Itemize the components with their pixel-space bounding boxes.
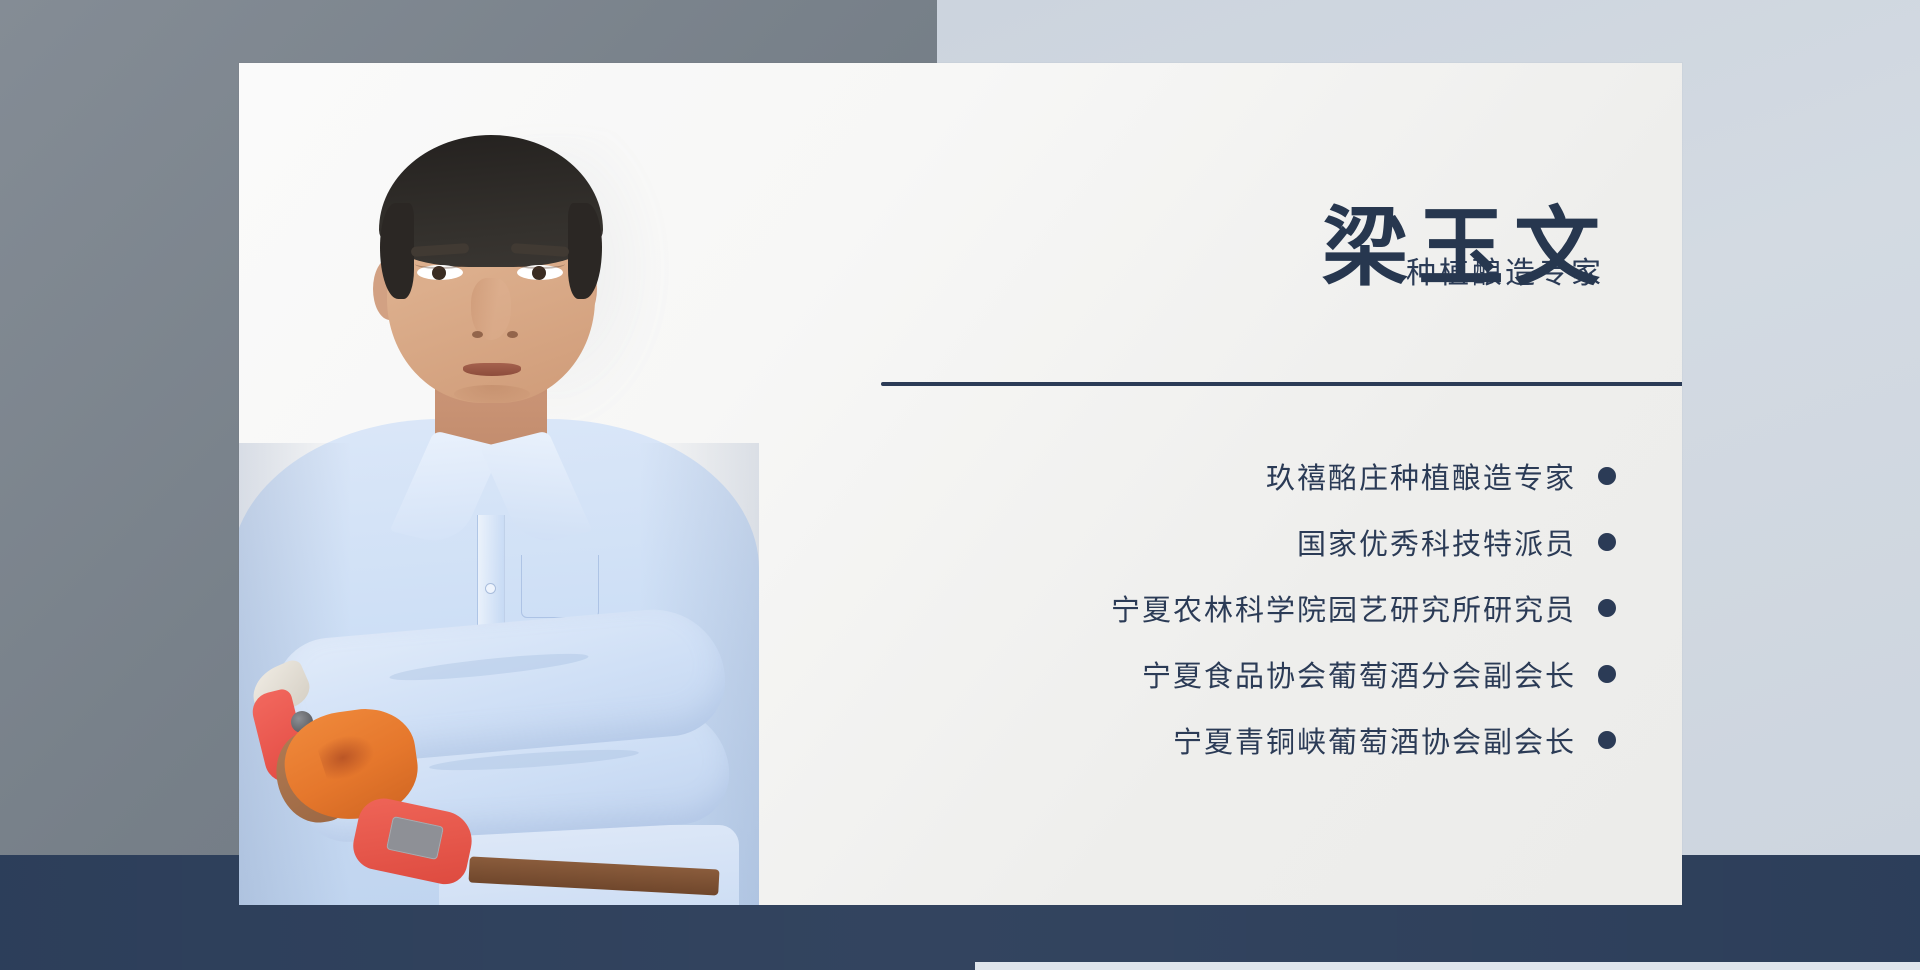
shirt-pocket xyxy=(521,555,599,618)
credential-label: 国家优秀科技特派员 xyxy=(1297,521,1576,563)
profile-card: 种植酿造专家 梁玉文 玖禧酩庄种植酿造专家 国家优秀科技特派员 宁夏农林科学院园… xyxy=(239,63,1682,905)
mouth xyxy=(463,363,521,376)
credentials-list: 玖禧酩庄种植酿造专家 国家优秀科技特派员 宁夏农林科学院园艺研究所研究员 宁夏食… xyxy=(1111,443,1616,773)
bullet-dot-icon xyxy=(1598,665,1616,683)
hair-side-left xyxy=(380,203,414,299)
person-name: 梁玉文 xyxy=(1322,195,1610,303)
portrait-photo xyxy=(239,63,759,905)
credential-label: 宁夏农林科学院园艺研究所研究员 xyxy=(1111,587,1576,629)
bullet-dot-icon xyxy=(1598,467,1616,485)
list-item: 玖禧酩庄种植酿造专家 xyxy=(1111,443,1616,509)
background-navy-bottom-edge xyxy=(975,962,1920,970)
list-item: 国家优秀科技特派员 xyxy=(1111,509,1616,575)
divider-line xyxy=(881,382,1682,386)
list-item: 宁夏食品协会葡萄酒分会副会长 xyxy=(1111,641,1616,707)
credential-label: 宁夏食品协会葡萄酒分会副会长 xyxy=(1142,653,1576,695)
bullet-dot-icon xyxy=(1598,599,1616,617)
nostril-right xyxy=(507,331,518,338)
bullet-dot-icon xyxy=(1598,731,1616,749)
eyelid-right xyxy=(515,259,565,269)
credential-label: 宁夏青铜峡葡萄酒协会副会长 xyxy=(1173,719,1576,761)
shirt-button xyxy=(485,583,496,594)
list-item: 宁夏青铜峡葡萄酒协会副会长 xyxy=(1111,707,1616,773)
chin-shadow xyxy=(454,385,530,403)
nostril-left xyxy=(472,331,483,338)
list-item: 宁夏农林科学院园艺研究所研究员 xyxy=(1111,575,1616,641)
bullet-dot-icon xyxy=(1598,533,1616,551)
poster-canvas: 种植酿造专家 梁玉文 玖禧酩庄种植酿造专家 国家优秀科技特派员 宁夏农林科学院园… xyxy=(0,0,1920,970)
eyelid-left xyxy=(415,259,465,269)
card-text-column: 种植酿造专家 梁玉文 玖禧酩庄种植酿造专家 国家优秀科技特派员 宁夏农林科学院园… xyxy=(799,63,1682,905)
credential-label: 玖禧酩庄种植酿造专家 xyxy=(1266,455,1576,497)
